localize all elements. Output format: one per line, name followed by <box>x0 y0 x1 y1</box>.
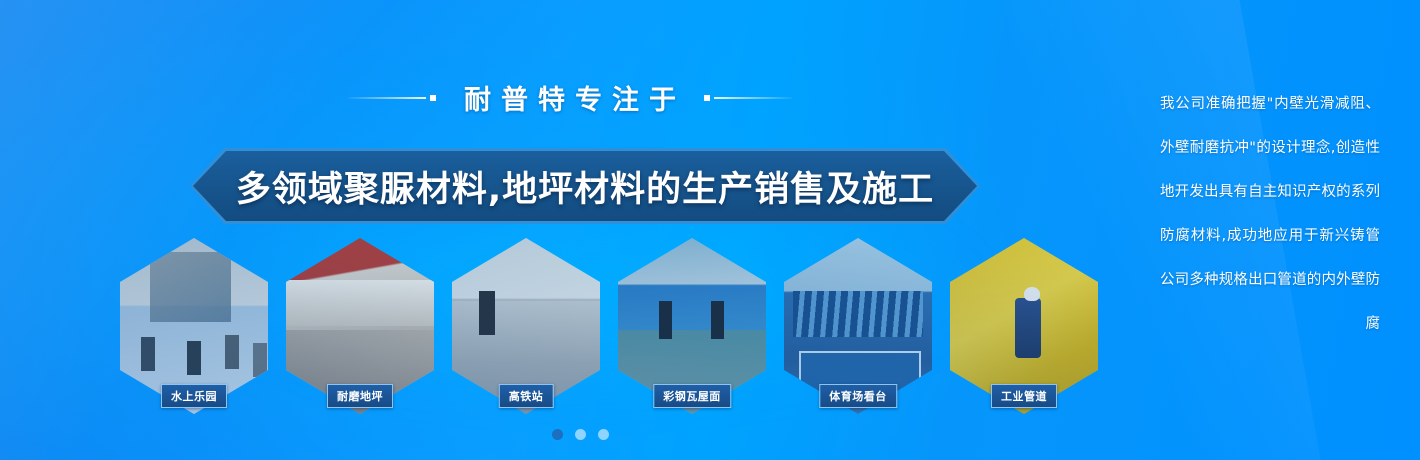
carousel-dot-1[interactable] <box>552 429 563 440</box>
decorative-rule-left <box>348 95 436 101</box>
rule-dot <box>704 95 710 101</box>
headline-banner-fill: 多领域聚脲材料,地坪材料的生产销售及施工 <box>193 151 977 221</box>
rule-bar <box>348 97 426 99</box>
gallery-item[interactable]: 工业管道 <box>950 238 1098 414</box>
carousel-dot-2[interactable] <box>575 429 586 440</box>
gallery-item-caption: 工业管道 <box>991 384 1057 408</box>
gallery-item[interactable]: 水上乐园 <box>120 238 268 414</box>
carousel-dots <box>0 429 1160 440</box>
rule-dot <box>430 95 436 101</box>
gallery-item-caption: 水上乐园 <box>161 384 227 408</box>
headline-banner: 多领域聚脲材料,地坪材料的生产销售及施工 <box>190 148 980 224</box>
company-description-paragraph: 我公司准确把握"内壁光滑减阻、外壁耐磨抗冲"的设计理念,创造性地开发出具有自主知… <box>1160 82 1380 346</box>
gallery-item[interactable]: 体育场看台 <box>784 238 932 414</box>
gallery-item-caption: 彩钢瓦屋面 <box>653 384 731 408</box>
headline-text: 多领域聚脲材料,地坪材料的生产销售及施工 <box>236 161 934 212</box>
project-hexagon-gallery: 水上乐园 耐磨地坪 高铁站 彩钢瓦屋面 体育场看台 <box>120 238 1135 414</box>
carousel-dot-3[interactable] <box>598 429 609 440</box>
decorative-rule-right <box>704 95 792 101</box>
rule-bar <box>714 97 792 99</box>
gallery-item-caption: 体育场看台 <box>819 384 897 408</box>
gallery-item[interactable]: 耐磨地坪 <box>286 238 434 414</box>
gallery-item[interactable]: 彩钢瓦屋面 <box>618 238 766 414</box>
gallery-item[interactable]: 高铁站 <box>452 238 600 414</box>
eyebrow-title-row: 耐普特专注于 <box>0 78 1140 117</box>
eyebrow-title: 耐普特专注于 <box>454 78 686 117</box>
gallery-item-caption: 耐磨地坪 <box>327 384 393 408</box>
gallery-item-caption: 高铁站 <box>499 384 554 408</box>
